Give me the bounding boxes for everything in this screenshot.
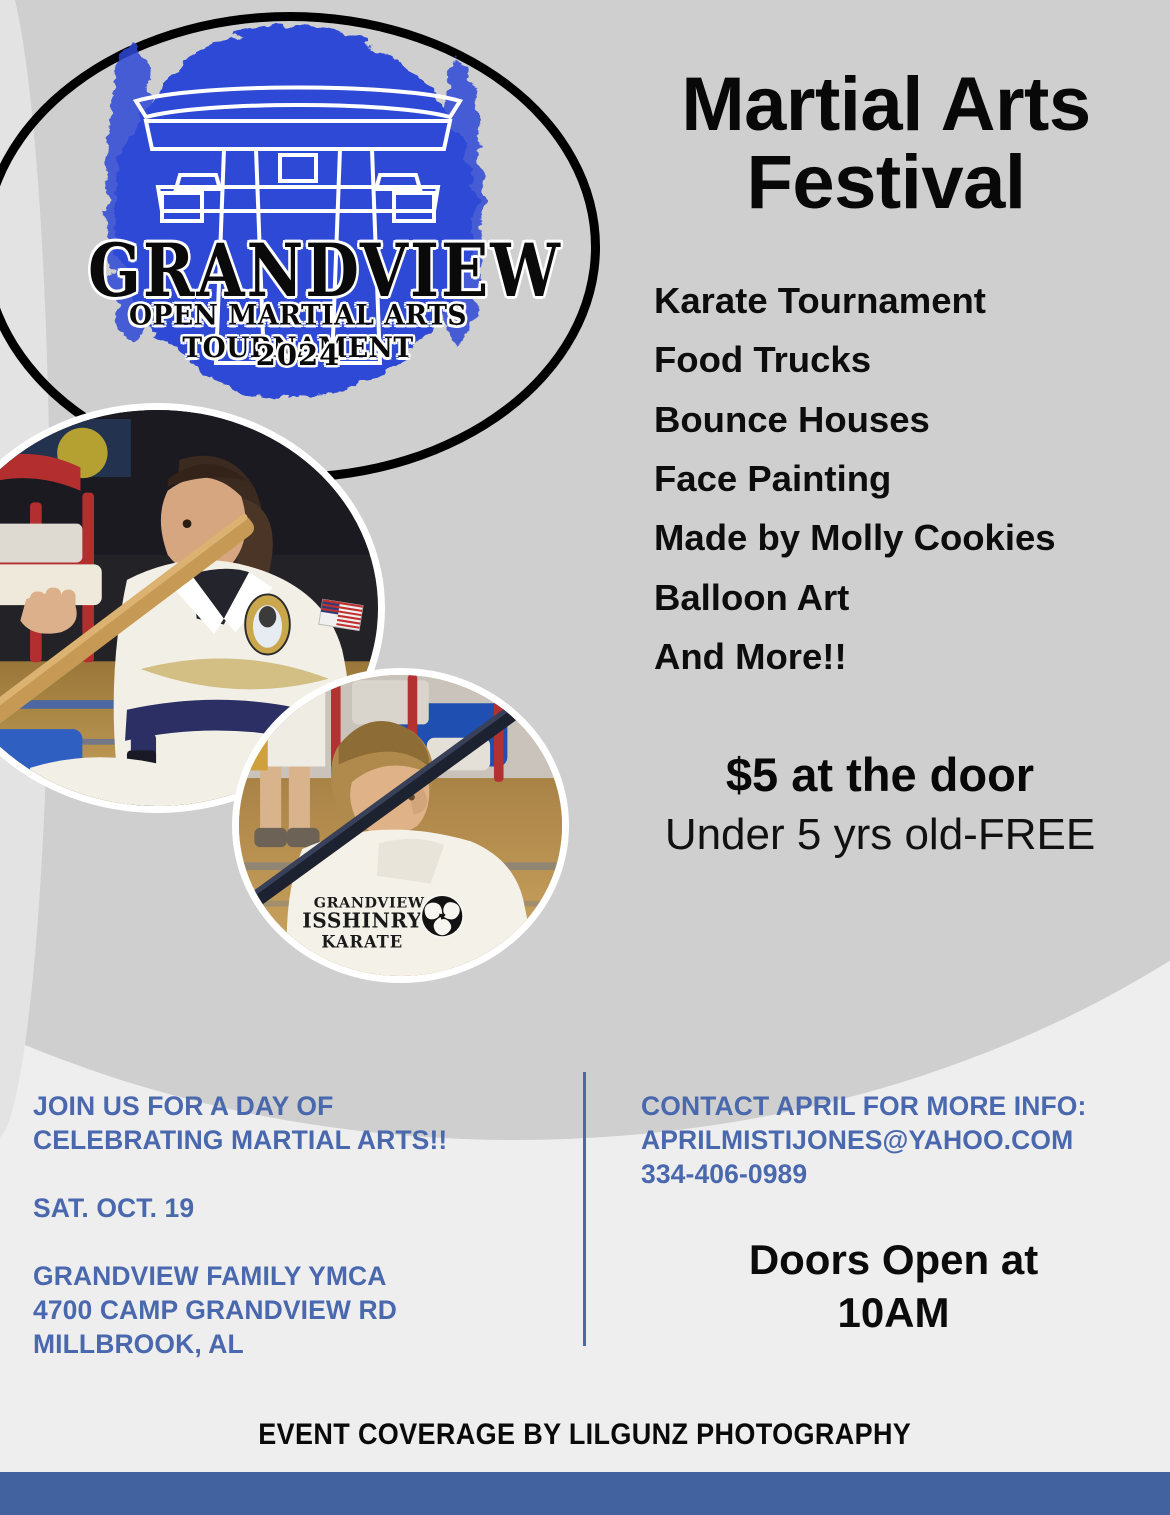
logo-year: 2024 <box>88 338 508 372</box>
invite-line-1: JOIN US FOR A DAY OF <box>33 1090 553 1124</box>
venue-address: 4700 CAMP GRANDVIEW RD <box>33 1294 553 1328</box>
feature-list: Karate Tournament Food Trucks Bounce Hou… <box>616 271 1156 687</box>
svg-text:KARATE: KARATE <box>321 933 403 952</box>
grandview-logo: GRANDVIEW OPEN MARTIAL ARTS TOURNAMENT 2… <box>88 16 508 416</box>
list-item: Balloon Art <box>654 568 1156 627</box>
svg-text:ISSHINRYU: ISSHINRYU <box>302 909 440 933</box>
invite-line-2: CELEBRATING MARTIAL ARTS!! <box>33 1124 553 1158</box>
vertical-divider <box>583 1072 586 1346</box>
page-title-line-1: Martial Arts <box>616 66 1156 144</box>
contact-phone[interactable]: 334-406-0989 <box>641 1158 1146 1192</box>
bottom-accent-bar <box>0 1472 1170 1515</box>
venue-city-state: MILLBROOK, AL <box>33 1328 553 1362</box>
photography-credit: EVENT COVERAGE BY LILGUNZ PHOTOGRAPHY <box>0 1418 1170 1452</box>
venue-name: GRANDVIEW FAMILY YMCA <box>33 1260 553 1294</box>
list-item: Bounce Houses <box>654 390 1156 449</box>
event-details-left: JOIN US FOR A DAY OF CELEBRATING MARTIAL… <box>33 1090 553 1361</box>
list-item: Karate Tournament <box>654 271 1156 330</box>
contact-heading: CONTACT APRIL FOR MORE INFO: <box>641 1090 1146 1124</box>
admission-price-block: $5 at the door Under 5 yrs old-FREE <box>616 749 1156 861</box>
martial-arts-festival-flyer: GRANDVIEW OPEN MARTIAL ARTS TOURNAMENT 2… <box>0 0 1170 1515</box>
photography-credit-text: EVENT COVERAGE BY LILGUNZ PHOTOGRAPHY <box>259 1418 912 1452</box>
page-title-line-2: Festival <box>616 144 1156 222</box>
doors-open-time: 10AM <box>641 1287 1146 1340</box>
invite-group: JOIN US FOR A DAY OF CELEBRATING MARTIAL… <box>33 1090 553 1158</box>
list-item: Made by Molly Cookies <box>654 508 1156 567</box>
event-date-group: SAT. OCT. 19 <box>33 1192 553 1226</box>
doors-open-line-1: Doors Open at <box>641 1234 1146 1287</box>
price-main: $5 at the door <box>616 749 1144 801</box>
photo-boy-illustration: GRANDVIEW ISSHINRYU KARATE <box>239 675 562 976</box>
list-item: And More!! <box>654 627 1156 686</box>
doors-open-block: Doors Open at 10AM <box>641 1234 1146 1339</box>
event-date: SAT. OCT. 19 <box>33 1192 553 1226</box>
page-title: Martial Arts Festival <box>616 66 1156 223</box>
list-item: Face Painting <box>654 449 1156 508</box>
hero-column: Martial Arts Festival Karate Tournament … <box>616 66 1156 861</box>
price-sub: Under 5 yrs old-FREE <box>616 809 1144 862</box>
event-venue-group: GRANDVIEW FAMILY YMCA 4700 CAMP GRANDVIE… <box>33 1260 553 1362</box>
contact-email[interactable]: APRILMISTIJONES@YAHOO.COM <box>641 1124 1146 1158</box>
photo-boy-with-bo-staff: GRANDVIEW ISSHINRYU KARATE <box>232 668 569 983</box>
list-item: Food Trucks <box>654 330 1156 389</box>
contact-details-right: CONTACT APRIL FOR MORE INFO: APRILMISTIJ… <box>641 1090 1146 1192</box>
